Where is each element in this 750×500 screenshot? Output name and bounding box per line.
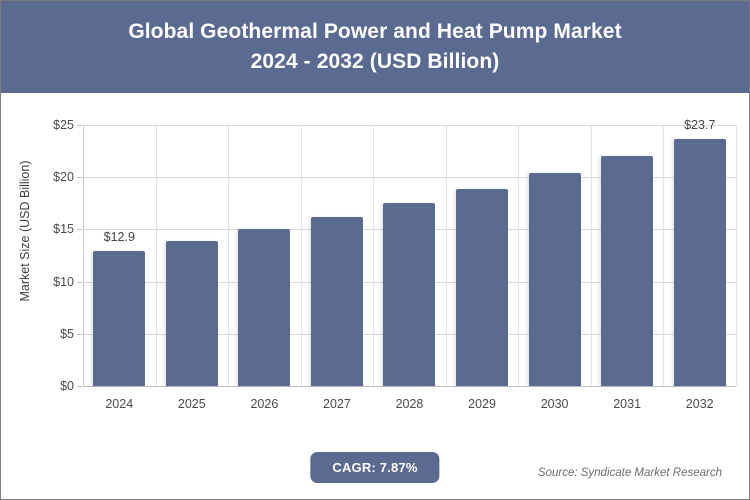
- bar[interactable]: [601, 156, 653, 386]
- bar[interactable]: [166, 241, 218, 386]
- x-tick-label: 2032: [686, 397, 714, 411]
- chart-header: Global Geothermal Power and Heat Pump Ma…: [1, 1, 749, 93]
- y-tick-mark: [77, 334, 82, 335]
- bar-value-label: $12.9: [104, 230, 135, 244]
- bar-group: 2031: [591, 125, 664, 386]
- bar[interactable]: [238, 229, 290, 386]
- page-title-line-2: 2024 - 2032 (USD Billion): [251, 50, 500, 74]
- y-tick-label: $0: [60, 379, 74, 393]
- y-tick-label: $5: [60, 327, 74, 341]
- y-tick-label: $10: [53, 275, 74, 289]
- bar-group: 2028: [373, 125, 446, 386]
- x-tick-label: 2027: [323, 397, 351, 411]
- bar[interactable]: [383, 203, 435, 386]
- y-tick-mark: [77, 229, 82, 230]
- bar[interactable]: [529, 173, 581, 386]
- x-tick-label: 2024: [105, 397, 133, 411]
- x-tick-label: 2030: [541, 397, 569, 411]
- bar-group: 2025: [156, 125, 229, 386]
- y-tick-mark: [77, 125, 82, 126]
- bar[interactable]: [456, 189, 508, 386]
- y-tick-label: $25: [53, 118, 74, 132]
- x-tick-label: 2028: [396, 397, 424, 411]
- y-gridline: [83, 386, 736, 387]
- y-tick-label: $15: [53, 222, 74, 236]
- x-tick-label: 2029: [468, 397, 496, 411]
- plot-area: $0$5$10$15$20$25$12.92024202520262027202…: [83, 125, 736, 386]
- y-tick-mark: [77, 386, 82, 387]
- source-note: Source: Syndicate Market Research: [538, 467, 722, 479]
- bar-group: 2027: [301, 125, 374, 386]
- chart-page: Global Geothermal Power and Heat Pump Ma…: [0, 0, 750, 500]
- cagr-badge: CAGR: 7.87%: [310, 452, 439, 483]
- bar-group: $23.72032: [663, 125, 736, 386]
- x-gridline: [736, 125, 737, 386]
- bar[interactable]: [93, 251, 145, 386]
- chart-body: Market Size (USD Billion) $0$5$10$15$20$…: [1, 94, 749, 499]
- page-title-line-1: Global Geothermal Power and Heat Pump Ma…: [128, 20, 621, 44]
- bar-group: $12.92024: [83, 125, 156, 386]
- y-tick-mark: [77, 177, 82, 178]
- bar-group: 2030: [518, 125, 591, 386]
- bar-group: 2026: [228, 125, 301, 386]
- x-tick-label: 2026: [250, 397, 278, 411]
- x-tick-label: 2031: [613, 397, 641, 411]
- bar-value-label: $23.7: [684, 118, 715, 132]
- y-tick-mark: [77, 282, 82, 283]
- y-tick-label: $20: [53, 170, 74, 184]
- bar-group: 2029: [446, 125, 519, 386]
- y-axis-title: Market Size (USD Billion): [18, 131, 32, 331]
- bar[interactable]: [674, 139, 726, 386]
- x-tick-label: 2025: [178, 397, 206, 411]
- bar[interactable]: [311, 217, 363, 386]
